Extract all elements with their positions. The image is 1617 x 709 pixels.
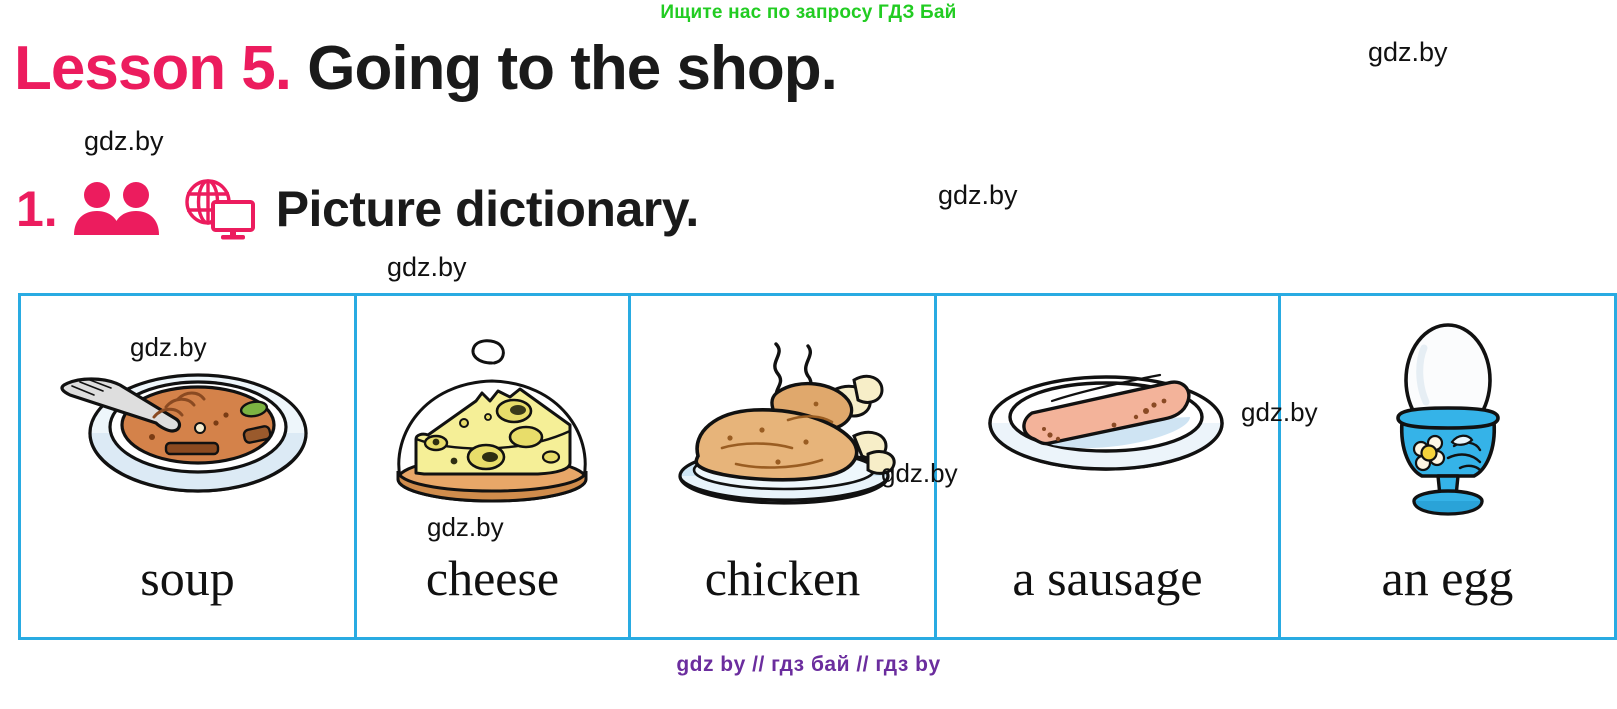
dictionary-label: soup <box>140 553 234 603</box>
exercise-heading: 1. Picture dictionary. <box>16 178 699 240</box>
exercise-number: 1. <box>16 184 58 234</box>
roast-chicken-on-plate-illustration <box>631 304 934 532</box>
sausage-on-plate-illustration <box>937 304 1278 532</box>
picture-dictionary-table: soup <box>18 293 1617 640</box>
promo-banner: Ищите нас по запросу ГДЗ Бай <box>0 2 1617 24</box>
watermark: gdz.by <box>130 332 207 363</box>
exercise-title: Picture dictionary. <box>276 184 699 234</box>
lesson-title: Going to the shop. <box>307 34 837 103</box>
dictionary-cell-sausage[interactable]: a sausage <box>937 296 1281 637</box>
lesson-number: Lesson 5. <box>14 34 291 103</box>
people-pair-icon <box>72 181 164 237</box>
watermark: gdz.by <box>938 180 1018 211</box>
dictionary-label: cheese <box>426 553 559 603</box>
cheese-wedge-under-glass-dome-illustration <box>357 304 628 532</box>
watermark: gdz.by <box>1241 397 1318 428</box>
site-footer: gdz by // гдз бай // гдз by <box>0 653 1617 677</box>
page-title: Lesson 5. Going to the shop. <box>14 38 837 100</box>
watermark: gdz.by <box>1368 37 1448 68</box>
dictionary-label: an egg <box>1382 553 1514 603</box>
watermark: gdz.by <box>387 252 467 283</box>
egg-in-blue-egg-cup-illustration <box>1281 304 1614 532</box>
dictionary-cell-egg[interactable]: an egg <box>1281 296 1617 637</box>
watermark: gdz.by <box>427 512 504 543</box>
globe-monitor-icon <box>178 178 256 240</box>
dictionary-label: a sausage <box>1012 553 1202 603</box>
watermark: gdz.by <box>84 126 164 157</box>
dictionary-cell-cheese[interactable]: cheese <box>357 296 631 637</box>
watermark: gdz.by <box>881 458 958 489</box>
dictionary-label: chicken <box>705 553 860 603</box>
